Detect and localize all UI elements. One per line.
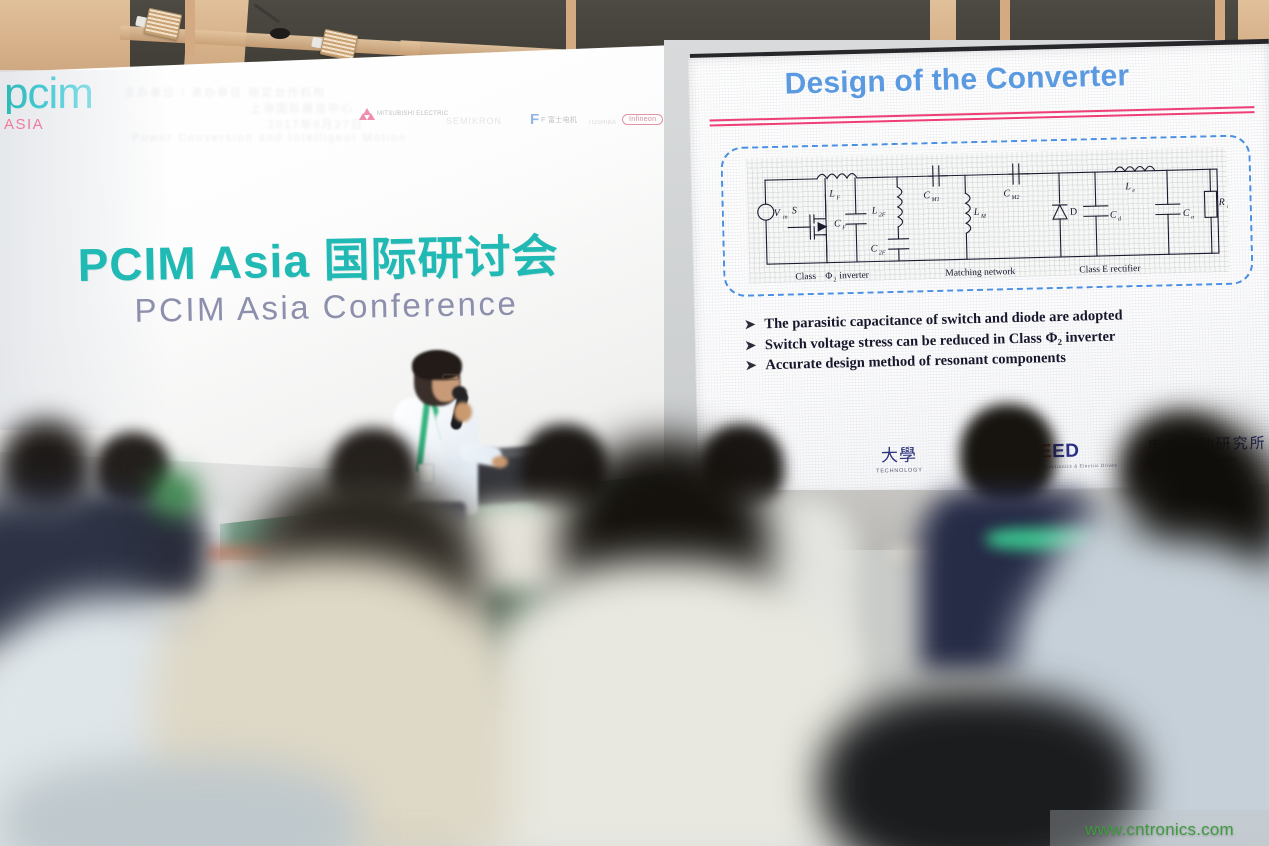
svg-text:Φ: Φ (825, 272, 832, 282)
circuit-schematic-svg: Vin LF S CF L2F C2F CM1 LM CM2 D Cd Le C… (746, 147, 1229, 284)
speaker-hand (454, 402, 472, 422)
slide-title: Design of the Converter (784, 59, 1129, 101)
converter-circuit-diagram: Vin LF S CF L2F C2F CM1 LM CM2 D Cd Le C… (746, 147, 1229, 284)
svg-text:L: L (871, 205, 878, 216)
svg-text:C: C (871, 243, 878, 254)
svg-text:M1: M1 (930, 197, 939, 203)
fuji-f-icon: F (530, 112, 539, 127)
svg-text:e: e (1132, 188, 1135, 194)
slide-bullet-list: ➤ The parasitic capacitance of switch an… (744, 302, 1255, 376)
svg-text:Class E rectifier: Class E rectifier (1079, 263, 1141, 276)
slide-diagram-dashed-frame: Vin LF S CF L2F C2F CM1 LM CM2 D Cd Le C… (720, 134, 1254, 297)
sponsor-logo-semikron: SEMIKRON (446, 116, 502, 126)
svg-text:C: C (1110, 210, 1117, 221)
svg-text:Matching network: Matching network (945, 267, 1015, 279)
bullet-arrow-icon: ➤ (745, 335, 756, 355)
svg-text:2: 2 (833, 277, 836, 283)
microphone-head (452, 386, 467, 400)
watermark-text: www.cntronics.com (1085, 820, 1234, 840)
foreground-person (0, 760, 360, 846)
svg-text:M: M (980, 214, 987, 220)
svg-text:o: o (1191, 215, 1194, 221)
sponsor-logo-row: MITSUBISHI ELECTRIC SEMIKRON F F 富士电机 TO… (360, 100, 660, 150)
foreground-person-shoulders (470, 560, 860, 846)
svg-text:R: R (1218, 197, 1225, 208)
svg-text:C: C (1183, 208, 1190, 219)
ceiling-post (185, 0, 195, 56)
svg-text:d: d (1118, 216, 1122, 222)
svg-text:F: F (841, 225, 846, 231)
svg-text:L: L (1226, 204, 1230, 210)
svg-text:C: C (1003, 188, 1010, 199)
conference-banner-title: PCIM Asia 国际研讨会 PCIM Asia Conference (77, 231, 599, 331)
wall-faint-text: 主办单位 / 承办单位 指定合作机构 (124, 84, 374, 100)
svg-text:M2: M2 (1010, 195, 1019, 201)
university-logo: 大學 TECHNOLOGY (875, 440, 922, 474)
slide-title-rule (710, 106, 1255, 126)
ceiling-beam (0, 0, 130, 78)
sponsor-logo-fuji: F F 富士电机 (530, 112, 577, 127)
svg-text:inverter: inverter (839, 271, 870, 282)
banner-title-cn: PCIM Asia 国际研讨会 (77, 231, 598, 289)
svg-text:S: S (792, 205, 797, 216)
svg-text:2F: 2F (879, 212, 886, 218)
svg-text:2F: 2F (879, 250, 886, 256)
svg-text:L: L (828, 188, 835, 199)
svg-text:D: D (1070, 207, 1078, 218)
speaker-hand (492, 456, 508, 468)
security-camera-icon (252, 12, 288, 38)
bullet-arrow-icon: ➤ (744, 314, 755, 334)
spotlight (146, 11, 180, 37)
spotlight-head (320, 29, 359, 62)
spotlight-head (144, 8, 183, 41)
sponsor-logo-toshiba: TOSHIBA (588, 120, 616, 126)
svg-text:L: L (973, 207, 980, 218)
conference-photo-scene: pcim ASIA 主办单位 / 承办单位 指定合作机构 上海国际展览中心 20… (0, 0, 1269, 846)
pcim-wordmark: pcim (4, 74, 93, 114)
svg-text:L: L (1124, 181, 1131, 192)
bullet-arrow-icon: ➤ (745, 356, 756, 376)
speaker-glasses (442, 374, 459, 380)
svg-text:Class: Class (795, 272, 816, 283)
svg-text:C: C (923, 190, 930, 201)
mitsubishi-diamond-icon (360, 108, 374, 120)
svg-text:V: V (774, 208, 782, 219)
pcim-asia-logo: pcim ASIA (4, 74, 93, 133)
spotlight (322, 32, 356, 58)
svg-text:F: F (835, 195, 840, 201)
svg-text:C: C (834, 218, 841, 229)
pcim-region-label: ASIA (4, 116, 93, 133)
svg-text:in: in (783, 215, 788, 221)
sponsor-logo-infineon: Infineon (622, 114, 663, 125)
sponsor-logo-mitsubishi: MITSUBISHI ELECTRIC (360, 108, 448, 120)
